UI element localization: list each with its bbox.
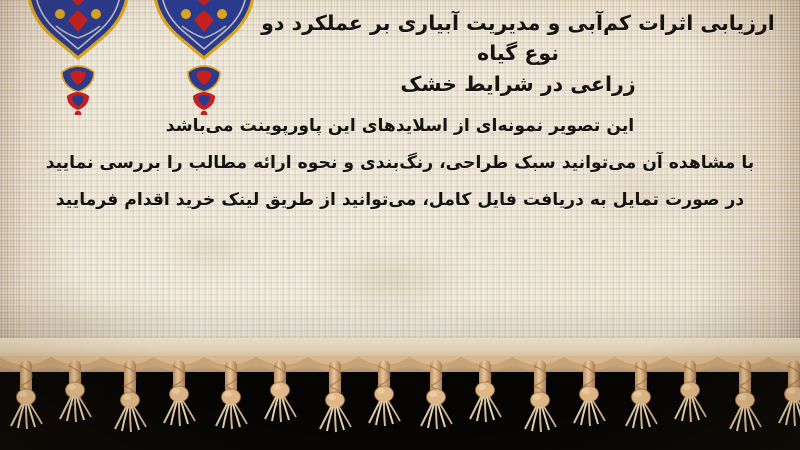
presentation-slide: ارزیابی اثرات کم‌آبی و مدیریت آبیاری بر …: [0, 0, 800, 450]
fringe-knot: [205, 356, 256, 450]
persian-carpet-medallion-pendant-icon: [148, 0, 260, 119]
fringe-knot-row: [0, 356, 800, 450]
slide-title: ارزیابی اثرات کم‌آبی و مدیریت آبیاری بر …: [250, 8, 786, 99]
fringe-knot: [0, 356, 51, 450]
persian-carpet-medallion-pendant-icon: [22, 0, 134, 119]
fringe-knot: [461, 356, 512, 450]
fringe-knot: [256, 356, 307, 450]
fringe-knot: [410, 356, 461, 450]
slide-body-text: این تصویر نمونه‌ای از اسلایدهای این پاور…: [0, 108, 800, 219]
fringe-knot: [564, 356, 615, 450]
fringe-knot: [513, 356, 564, 450]
body-line-1: این تصویر نمونه‌ای از اسلایدهای این پاور…: [0, 108, 800, 145]
title-line-2: زراعی در شرایط خشک: [250, 69, 786, 99]
fringe-knot: [103, 356, 154, 450]
carpet-tassel-fringe: [0, 338, 800, 450]
fringe-knot: [769, 356, 800, 450]
fringe-knot: [615, 356, 666, 450]
fringe-knot: [359, 356, 410, 450]
fringe-knot: [666, 356, 717, 450]
fringe-knot: [51, 356, 102, 450]
fringe-knot: [718, 356, 769, 450]
body-line-2: با مشاهده آن می‌توانید سبک طراحی، رنگ‌بن…: [0, 145, 800, 182]
fringe-knot: [308, 356, 359, 450]
fringe-knot: [154, 356, 205, 450]
body-line-3: در صورت تمایل به دریافت فایل کامل، می‌تو…: [0, 182, 800, 219]
title-line-1: ارزیابی اثرات کم‌آبی و مدیریت آبیاری بر …: [250, 8, 786, 69]
